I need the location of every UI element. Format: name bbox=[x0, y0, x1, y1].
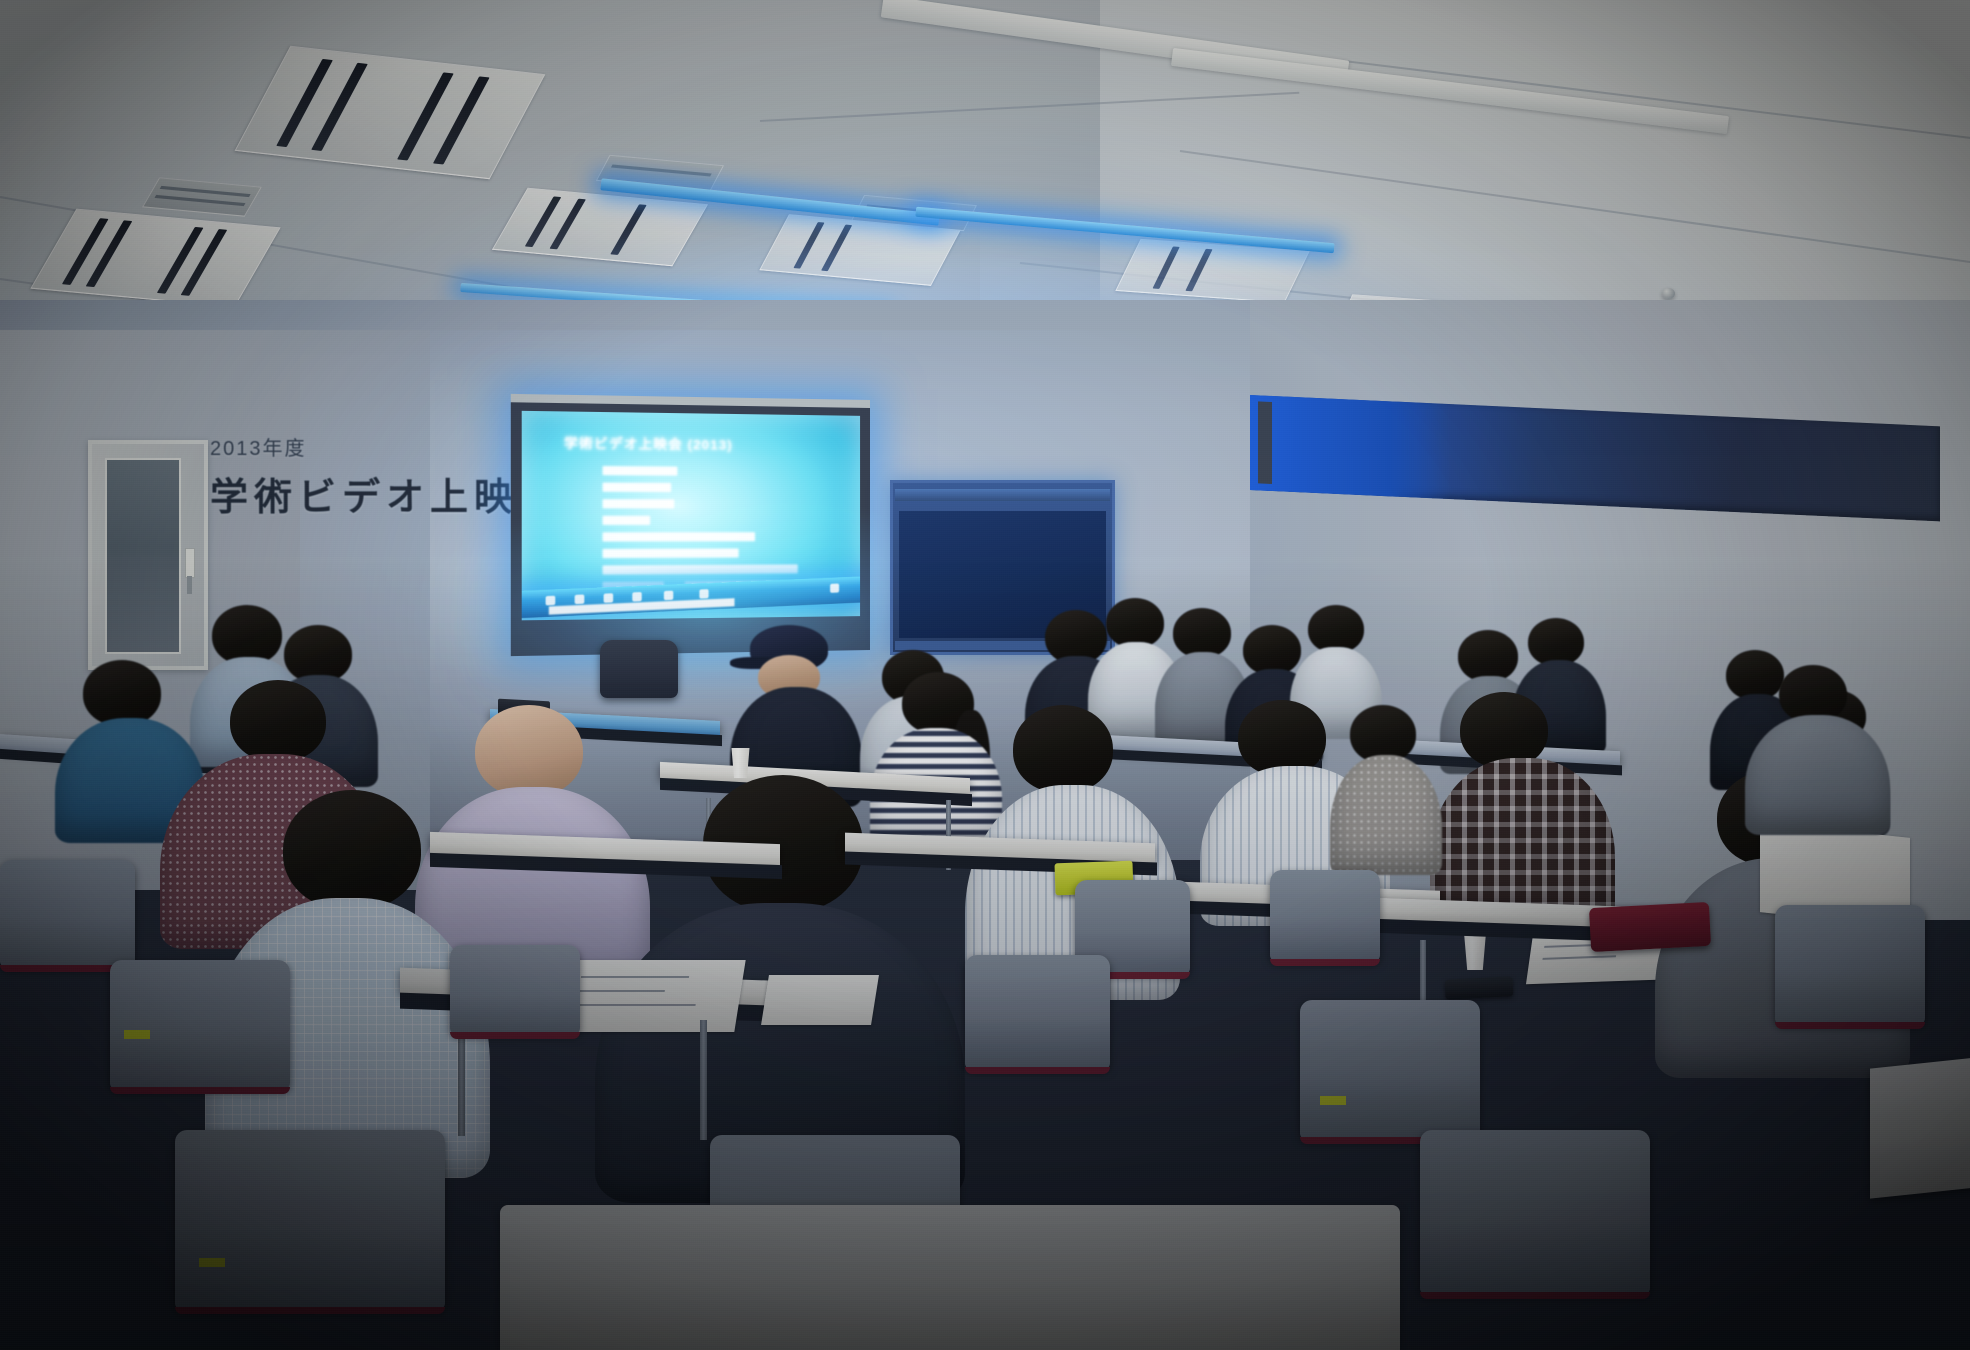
chair[interactable] bbox=[600, 640, 678, 698]
chair[interactable] bbox=[450, 945, 580, 1035]
wall-signage-title: 学術ビデオ上映会 bbox=[210, 466, 562, 521]
seminar-room-photo: 2013年度 学術ビデオ上映会 学術ビデオ上映会 (2013) bbox=[0, 0, 1970, 1350]
chair[interactable] bbox=[965, 955, 1110, 1070]
wall-signage-year: 2013年度 bbox=[210, 432, 562, 461]
door-handle-icon[interactable] bbox=[185, 548, 195, 578]
chair[interactable] bbox=[110, 960, 290, 1090]
chair[interactable] bbox=[1775, 905, 1925, 1025]
chair[interactable] bbox=[1420, 1130, 1650, 1295]
slide-text-line bbox=[602, 499, 674, 508]
chair[interactable] bbox=[0, 860, 135, 968]
slide-text-line bbox=[602, 483, 671, 493]
paper-document bbox=[761, 975, 879, 1025]
slide-text-line bbox=[602, 466, 677, 476]
paper-cup bbox=[1460, 935, 1490, 970]
slide-title: 学術ビデオ上映会 (2013) bbox=[564, 432, 834, 454]
slide-text-line bbox=[602, 548, 738, 558]
smartphone[interactable] bbox=[1445, 976, 1514, 1000]
chair[interactable] bbox=[1270, 870, 1380, 962]
slide-text-line bbox=[602, 532, 755, 541]
chair[interactable] bbox=[175, 1130, 445, 1310]
slide-text-line bbox=[602, 516, 650, 525]
door-latch-icon bbox=[187, 576, 192, 594]
paper-document bbox=[554, 960, 745, 1032]
desk-leg bbox=[700, 1020, 707, 1140]
door-window bbox=[105, 458, 181, 654]
projection-screen: 学術ビデオ上映会 (2013) bbox=[511, 394, 870, 656]
projection-screen-surface: 学術ビデオ上映会 (2013) bbox=[522, 411, 860, 621]
red-bag bbox=[1589, 902, 1711, 952]
slide-text-line bbox=[602, 564, 798, 574]
wall-signage: 2013年度 学術ビデオ上映会 bbox=[210, 432, 562, 521]
foreground-empty-desk bbox=[500, 1205, 1400, 1350]
door[interactable] bbox=[88, 440, 208, 670]
chair[interactable] bbox=[1300, 1000, 1480, 1140]
